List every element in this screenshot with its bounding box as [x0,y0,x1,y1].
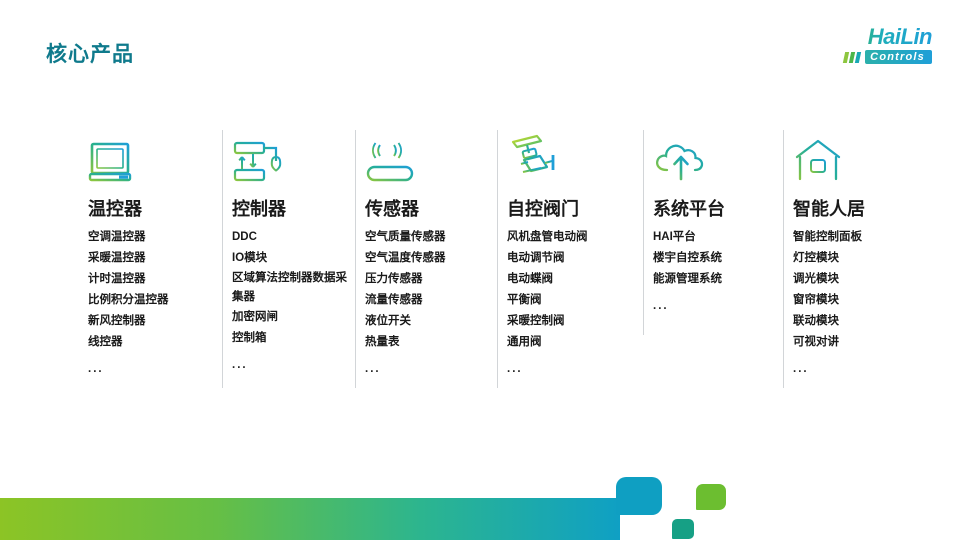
monitor-thermostat-icon [88,128,222,184]
globe-valve-icon [507,128,643,184]
list-item-more: ... [653,290,783,317]
column-divider [355,130,356,388]
list-item: 楼宇自控系统 [653,248,783,269]
list-item-more: ... [88,353,222,380]
decor-square-green-small [672,519,694,539]
smart-home-chip-icon [793,128,908,184]
decor-square-green [696,484,726,510]
list-item: DDC [232,227,355,248]
list-item: 线控器 [88,332,222,353]
list-item: 流量传感器 [365,290,497,311]
list-item: 灯控模块 [793,248,908,269]
list-item: 平衡阀 [507,290,643,311]
list-item-more: ... [365,353,497,380]
slide-root: 核心产品 HaiLin Controls [0,0,960,540]
category-item-list: 智能控制面板 灯控模块 调光模块 窗帘模块 联动模块 可视对讲 ... [793,227,908,380]
list-item: 热量表 [365,332,497,353]
column-divider [497,130,498,388]
list-item: 风机盘管电动阀 [507,227,643,248]
category-title: 自控阀门 [507,198,643,220]
list-item-more: ... [232,349,355,376]
list-item-more: ... [793,353,908,380]
list-item: HAI平台 [653,227,783,248]
logo-subtitle-row: Controls [806,50,932,64]
list-item: 压力传感器 [365,269,497,290]
category-title: 系统平台 [653,198,783,220]
logo-wordmark: HaiLin [806,26,932,48]
brand-logo: HaiLin Controls [806,26,932,68]
footer-gradient-bar [0,498,620,540]
list-item: 液位开关 [365,311,497,332]
list-item: 计时温控器 [88,269,222,290]
column-divider [222,130,223,388]
category-column-valve: 自控阀门 风机盘管电动阀 电动调节阀 电动蝶阀 平衡阀 采暖控制阀 通用阀 ..… [497,128,643,390]
list-item: 智能控制面板 [793,227,908,248]
column-divider [643,130,644,335]
controller-module-icon [232,128,355,184]
cloud-upload-icon [653,128,783,184]
list-item: 比例积分温控器 [88,290,222,311]
list-item: 通用阀 [507,332,643,353]
category-title: 传感器 [365,198,497,220]
decor-square-teal [616,477,662,515]
list-item: 采暖温控器 [88,248,222,269]
category-column-controller: 控制器 DDC IO模块 区域算法控制器数据采集器 加密网闸 控制箱 ... [222,128,355,390]
list-item: 控制箱 [232,328,355,349]
category-item-list: 风机盘管电动阀 电动调节阀 电动蝶阀 平衡阀 采暖控制阀 通用阀 ... [507,227,643,380]
logo-bars-icon [844,52,860,63]
list-item: 加密网闸 [232,307,355,328]
list-item: 空调温控器 [88,227,222,248]
category-item-list: HAI平台 楼宇自控系统 能源管理系统 ... [653,227,783,317]
list-item: 可视对讲 [793,332,908,353]
category-title: 控制器 [232,198,355,220]
list-item: IO模块 [232,248,355,269]
wireless-sensor-icon [365,128,497,184]
list-item: 空气温度传感器 [365,248,497,269]
list-item: 新风控制器 [88,311,222,332]
category-column-smart-home: 智能人居 智能控制面板 灯控模块 调光模块 窗帘模块 联动模块 可视对讲 ... [783,128,908,390]
list-item: 窗帘模块 [793,290,908,311]
product-categories: 温控器 空调温控器 采暖温控器 计时温控器 比例积分温控器 新风控制器 线控器 … [78,128,908,390]
list-item: 采暖控制阀 [507,311,643,332]
list-item: 能源管理系统 [653,269,783,290]
category-item-list: DDC IO模块 区域算法控制器数据采集器 加密网闸 控制箱 ... [232,227,355,376]
list-item: 电动调节阀 [507,248,643,269]
category-column-platform: 系统平台 HAI平台 楼宇自控系统 能源管理系统 ... [643,128,783,390]
list-item: 空气质量传感器 [365,227,497,248]
category-title: 温控器 [88,198,222,220]
list-item: 联动模块 [793,311,908,332]
page-title: 核心产品 [46,38,134,68]
category-item-list: 空调温控器 采暖温控器 计时温控器 比例积分温控器 新风控制器 线控器 ... [88,227,222,380]
logo-subtitle: Controls [865,50,932,64]
list-item: 调光模块 [793,269,908,290]
list-item: 电动蝶阀 [507,269,643,290]
list-item: 区域算法控制器数据采集器 [232,269,355,307]
category-title: 智能人居 [793,198,908,220]
list-item-more: ... [507,353,643,380]
category-column-thermostat: 温控器 空调温控器 采暖温控器 计时温控器 比例积分温控器 新风控制器 线控器 … [78,128,222,390]
column-divider [783,130,784,388]
category-item-list: 空气质量传感器 空气温度传感器 压力传感器 流量传感器 液位开关 热量表 ... [365,227,497,380]
category-column-sensor: 传感器 空气质量传感器 空气温度传感器 压力传感器 流量传感器 液位开关 热量表… [355,128,497,390]
